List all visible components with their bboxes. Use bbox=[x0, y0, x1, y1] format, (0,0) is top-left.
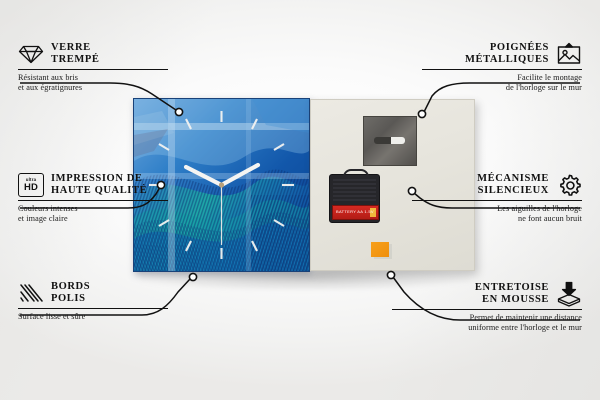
feature-title-line1: BORDS bbox=[51, 281, 90, 294]
feature-desc-line1: Couleurs intenses bbox=[18, 204, 168, 214]
feature-divider bbox=[412, 200, 582, 201]
feature-title-line1: POIGNÉES bbox=[465, 42, 549, 55]
feature-desc-line1: Permet de maintenir une distance bbox=[392, 313, 582, 323]
feature-poignees-metalliques: POIGNÉES MÉTALLIQUES Facilite le montage… bbox=[422, 41, 582, 93]
feature-impression-haute-qualite: ultra HD IMPRESSION DE HAUTE QUALITÉ Cou… bbox=[18, 172, 168, 224]
ultra-hd-icon-large-label: HD bbox=[24, 183, 38, 193]
picture-hanger-icon bbox=[556, 41, 582, 67]
foam-spacer-icon bbox=[556, 281, 582, 307]
feature-title: IMPRESSION DE HAUTE QUALITÉ bbox=[51, 173, 147, 198]
polished-edges-icon bbox=[18, 280, 44, 306]
diamond-icon bbox=[18, 41, 44, 67]
feature-desc-line2: et aux égratignures bbox=[18, 83, 168, 93]
feature-header: ENTRETOISE EN MOUSSE bbox=[392, 281, 582, 307]
feature-divider bbox=[422, 69, 582, 70]
feature-title: MÉCANISME SILENCIEUX bbox=[477, 173, 549, 198]
infographic-canvas: BATTERY AA 1.5V bbox=[0, 0, 600, 400]
feature-desc-line1: Résistant aux bris bbox=[18, 73, 168, 83]
feature-bords-polis: BORDS POLIS Surface lisse et sûre bbox=[18, 280, 168, 322]
feature-divider bbox=[18, 200, 168, 201]
feature-divider bbox=[18, 69, 168, 70]
feature-mecanisme-silencieux: MÉCANISME SILENCIEUX Les aiguilles de l'… bbox=[412, 172, 582, 224]
gear-icon bbox=[556, 172, 582, 198]
feature-header: POIGNÉES MÉTALLIQUES bbox=[422, 41, 582, 67]
feature-title-line1: IMPRESSION DE bbox=[51, 173, 147, 186]
feature-title-line2: MÉTALLIQUES bbox=[465, 54, 549, 67]
ultra-hd-icon: ultra HD bbox=[18, 172, 44, 198]
feature-desc-line1: Surface lisse et sûre bbox=[18, 312, 168, 322]
feature-verre-trempe: VERRE TREMPÉ Résistant aux bris et aux é… bbox=[18, 41, 168, 93]
feature-header: VERRE TREMPÉ bbox=[18, 41, 168, 67]
feature-title: BORDS POLIS bbox=[51, 281, 90, 306]
feature-desc-line2: ne font aucun bruit bbox=[412, 214, 582, 224]
connector-dot-poignees bbox=[418, 110, 425, 117]
feature-header: ultra HD IMPRESSION DE HAUTE QUALITÉ bbox=[18, 172, 168, 198]
feature-title-line2: SILENCIEUX bbox=[477, 185, 549, 198]
feature-title-line1: VERRE bbox=[51, 42, 100, 55]
feature-desc-line2: uniforme entre l'horloge et le mur bbox=[392, 323, 582, 333]
feature-divider bbox=[392, 309, 582, 310]
feature-header: MÉCANISME SILENCIEUX bbox=[412, 172, 582, 198]
feature-title-line2: EN MOUSSE bbox=[475, 294, 549, 307]
feature-entretoise-en-mousse: ENTRETOISE EN MOUSSE Permet de maintenir… bbox=[392, 281, 582, 333]
feature-title-line1: MÉCANISME bbox=[477, 173, 549, 186]
feature-title-line2: POLIS bbox=[51, 293, 90, 306]
feature-title: ENTRETOISE EN MOUSSE bbox=[475, 282, 549, 307]
feature-title-line2: TREMPÉ bbox=[51, 54, 100, 67]
feature-title: VERRE TREMPÉ bbox=[51, 42, 100, 67]
feature-header: BORDS POLIS bbox=[18, 280, 168, 306]
feature-title: POIGNÉES MÉTALLIQUES bbox=[465, 42, 549, 67]
feature-desc-line2: et image claire bbox=[18, 214, 168, 224]
feature-divider bbox=[18, 308, 168, 309]
feature-desc-line1: Les aiguilles de l'horloge bbox=[412, 204, 582, 214]
feature-desc-line2: de l'horloge sur le mur bbox=[422, 83, 582, 93]
feature-title-line1: ENTRETOISE bbox=[475, 282, 549, 295]
connector-dot-bords-polis bbox=[189, 273, 196, 280]
connector-dot-verre-trempe bbox=[175, 108, 182, 115]
feature-desc-line1: Facilite le montage bbox=[422, 73, 582, 83]
connector-dot-entretoise bbox=[387, 271, 394, 278]
feature-title-line2: HAUTE QUALITÉ bbox=[51, 185, 147, 198]
